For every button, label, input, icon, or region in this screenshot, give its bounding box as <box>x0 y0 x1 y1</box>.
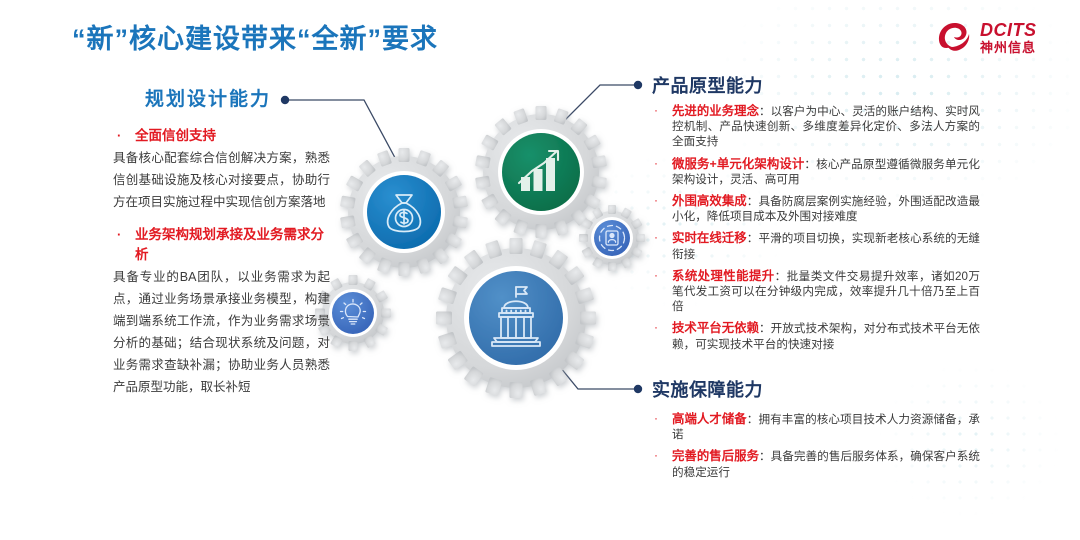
growth-chart-gear <box>475 106 607 238</box>
right-top-bullet-separator: ： <box>804 158 816 171</box>
right-bottom-bullet-term: 高端人才储备 <box>672 412 747 426</box>
right-top-bullet-separator: ： <box>759 322 771 335</box>
right-top-bullet-separator: ： <box>775 270 787 283</box>
right-bottom-bullet-separator: ： <box>747 413 759 426</box>
left-bullet-1: · 全面信创支持 具备核心配套综合信创解决方案，熟悉信创基础设施及核心对接要点，… <box>113 126 330 213</box>
right-top-bullet-list: ·先进的业务理念：以客户为中心、灵活的账户结构、实时风控机制、产品快速创新、多维… <box>650 104 980 359</box>
right-top-bullet-separator: ： <box>759 105 771 118</box>
right-top-bullet-term: 外围高效集成 <box>672 194 747 208</box>
right-bottom-bullet-item: ·高端人才储备：拥有丰富的核心项目技术人力资源储备，承诺 <box>650 412 980 442</box>
left-bullet-2-title-text: 业务架构规划承接及业务需求分析 <box>135 227 324 262</box>
right-bottom-bullet-separator: ： <box>759 450 771 463</box>
left-section-heading: 规划设计能力 <box>145 84 271 111</box>
right-top-bullet-term: 先进的业务理念 <box>672 104 759 118</box>
money-bag-gear <box>340 148 468 276</box>
bullet-dot-icon: · <box>117 225 121 245</box>
bullet-dot-icon: · <box>117 126 121 146</box>
right-top-bullet-item: ·实时在线迁移：平滑的项目切换，实现新老核心系统的无缝衔接 <box>650 231 980 261</box>
right-top-bullet-term: 实时在线迁移 <box>672 231 747 245</box>
right-bottom-bullet-item: ·完善的售后服务：具备完善的售后服务体系，确保客户系统的稳定运行 <box>650 449 980 479</box>
bullet-dot-icon: · <box>654 320 658 335</box>
left-bullet-list: · 全面信创支持 具备核心配套综合信创解决方案，熟悉信创基础设施及核心对接要点，… <box>113 126 330 402</box>
left-bullet-1-body: 具备核心配套综合信创解决方案，熟悉信创基础设施及核心对接要点，协助行方在项目实施… <box>113 147 330 213</box>
right-top-bullet-term: 系统处理性能提升 <box>672 269 775 283</box>
right-top-bullet-separator: ： <box>747 195 759 208</box>
right-top-bullet-item: ·外围高效集成：具备防腐层案例实施经验，外围适配改造最小化，降低项目成本及外围对… <box>650 194 980 224</box>
left-bullet-1-title-text: 全面信创支持 <box>135 128 216 143</box>
user-badge-gear <box>579 205 645 271</box>
slide-canvas: “新”核心建设带来“全新”要求 DCITS 神州信息 <box>0 0 1080 540</box>
left-bullet-1-title: · 全面信创支持 <box>113 126 330 146</box>
bullet-dot-icon: · <box>654 103 658 118</box>
left-bullet-2-body: 具备专业的BA团队，以业务需求为起点，通过业务场景承接业务模型，构建端到端系统工… <box>113 266 330 398</box>
bullet-dot-icon: · <box>654 268 658 283</box>
right-bottom-bullet-list: ·高端人才储备：拥有丰富的核心项目技术人力资源储备，承诺·完善的售后服务：具备完… <box>650 412 980 487</box>
right-top-section-heading: 产品原型能力 <box>652 72 763 98</box>
right-bottom-section-heading: 实施保障能力 <box>652 376 763 402</box>
right-top-bullet-term: 技术平台无依赖 <box>672 321 759 335</box>
right-top-bullet-term: 微服务+单元化架构设计 <box>672 157 804 171</box>
bullet-dot-icon: · <box>654 230 658 245</box>
bullet-dot-icon: · <box>654 448 658 463</box>
bullet-dot-icon: · <box>654 411 658 426</box>
left-bullet-2: · 业务架构规划承接及业务需求分析 具备专业的BA团队，以业务需求为起点，通过业… <box>113 225 330 398</box>
right-top-bullet-item: ·系统处理性能提升：批量类文件交易提升效率，诸如20万笔代发工资可以在分钟级内完… <box>650 269 980 315</box>
bullet-dot-icon: · <box>654 193 658 208</box>
bank-building-gear <box>436 238 596 398</box>
right-bottom-bullet-term: 完善的售后服务 <box>672 449 759 463</box>
right-top-bullet-item: ·技术平台无依赖：开放式技术架构，对分布式技术平台无依赖，可实现技术平台的快速对… <box>650 321 980 351</box>
left-bullet-2-title: · 业务架构规划承接及业务需求分析 <box>113 225 330 265</box>
right-top-bullet-item: ·先进的业务理念：以客户为中心、灵活的账户结构、实时风控机制、产品快速创新、多维… <box>650 104 980 150</box>
right-top-bullet-item: ·微服务+单元化架构设计：核心产品原型遵循微服务单元化架构设计，灵活、高可用 <box>650 157 980 187</box>
right-top-bullet-separator: ： <box>747 232 759 245</box>
bullet-dot-icon: · <box>654 156 658 171</box>
